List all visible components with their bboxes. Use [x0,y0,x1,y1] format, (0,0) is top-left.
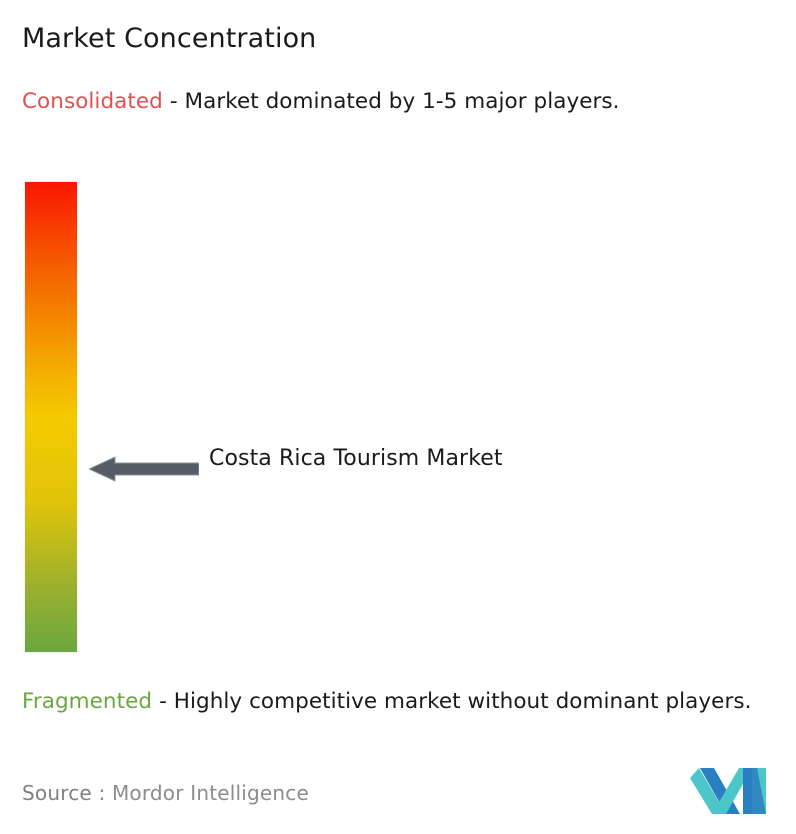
legend-consolidated: Consolidated- Market dominated by 1-5 ma… [22,86,774,117]
page-title: Market Concentration [22,22,316,56]
concentration-gradient-bar [25,182,77,652]
source-value: Mordor Intelligence [112,781,309,805]
legend-fragmented: Fragmented- Highly competitive market wi… [22,686,786,717]
market-position-label: Costa Rica Tourism Market [209,441,539,476]
legend-term-fragmented: Fragmented [22,689,152,714]
source-label: Source : [22,781,105,805]
market-concentration-chart: Market Concentration Consolidated- Marke… [0,0,796,834]
legend-description-fragmented: - Highly competitive market without domi… [159,689,751,714]
legend-term-consolidated: Consolidated [22,89,163,114]
mordor-intelligence-logo-icon [690,768,770,814]
legend-description-consolidated: - Market dominated by 1-5 major players. [170,89,620,114]
source-attribution: Source : Mordor Intelligence [22,779,309,807]
market-position-arrow-icon [89,455,199,483]
